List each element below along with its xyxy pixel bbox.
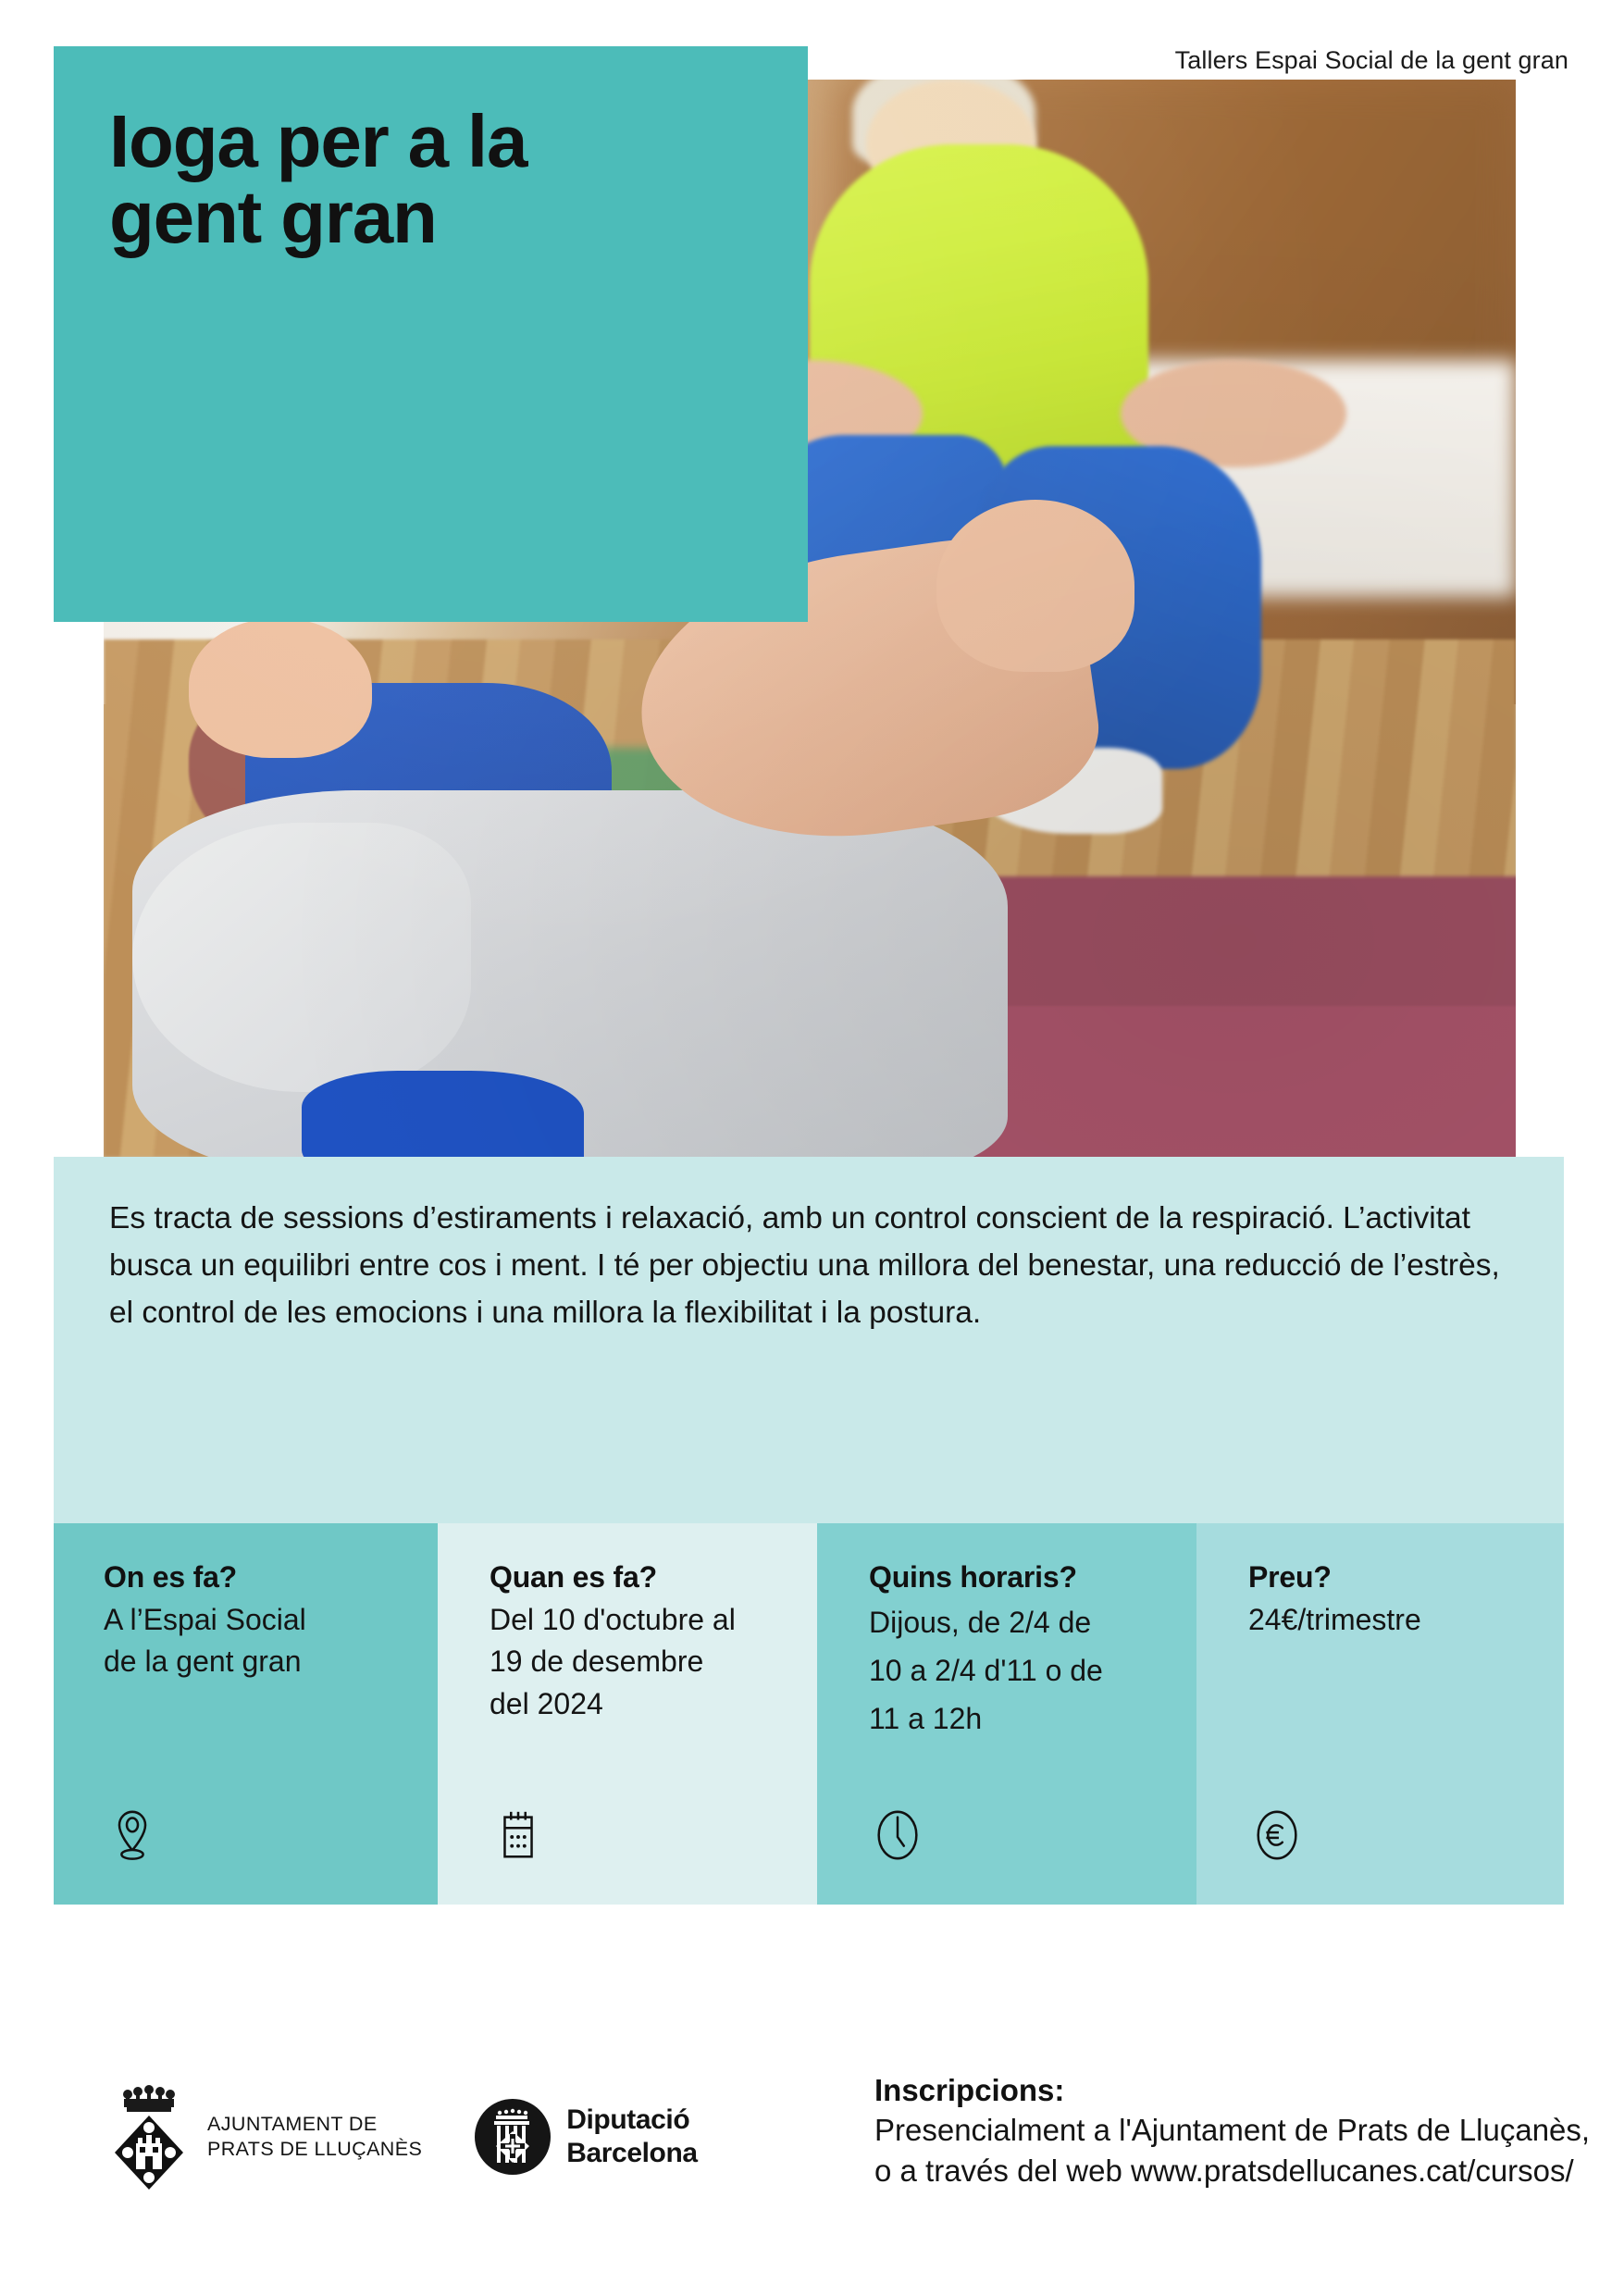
footer-logos: AJUNTAMENT DE PRATS DE LLUÇANÈS	[109, 2082, 698, 2191]
info-answer-dates: Del 10 d'octubre al 19 de desembre del 2…	[490, 1599, 797, 1725]
info-column-dates: Quan es fa? Del 10 d'octubre al 19 de de…	[438, 1523, 817, 1905]
calendar-icon	[490, 1806, 547, 1864]
poster-root: Tallers Espai Social de la gent gran Iog…	[0, 0, 1624, 2296]
clock-icon	[869, 1806, 926, 1864]
ajuntament-wordmark-line-2: PRATS DE LLUÇANÈS	[207, 2137, 422, 2162]
ajuntament-logo: AJUNTAMENT DE PRATS DE LLUÇANÈS	[109, 2082, 422, 2191]
info-column-price: Preu? 24€/trimestre	[1196, 1523, 1564, 1905]
info-answer-schedule: Dijous, de 2/4 de 10 a 2/4 d'11 o de 11 …	[869, 1599, 1176, 1743]
inscriptions-block: Inscripcions: Presencialment a l'Ajuntam…	[874, 2073, 1605, 2191]
ajuntament-crest-icon	[109, 2082, 189, 2191]
diputacio-wordmark-line-2: Barcelona	[566, 2137, 697, 2170]
info-question-location: On es fa?	[104, 1560, 417, 1595]
info-column-location: On es fa? A l’Espai Social de la gent gr…	[54, 1523, 438, 1905]
diputacio-wordmark-line-1: Diputació	[566, 2104, 697, 2137]
ajuntament-wordmark-line-1: AJUNTAMENT DE	[207, 2112, 422, 2137]
title-block: Ioga per a la gent gran	[54, 46, 808, 622]
diputacio-seal-icon	[474, 2098, 552, 2176]
header-eyebrow: Tallers Espai Social de la gent gran	[1175, 46, 1568, 75]
euro-circle-icon	[1248, 1806, 1306, 1864]
info-question-price: Preu?	[1248, 1560, 1543, 1595]
description-text: Es tracta de sessions d’estiraments i re…	[109, 1196, 1506, 1337]
info-column-schedule: Quins horaris? Dijous, de 2/4 de 10 a 2/…	[817, 1523, 1196, 1905]
photo-front-person-hand	[936, 500, 1134, 672]
footer: AJUNTAMENT DE PRATS DE LLUÇANÈS	[0, 2054, 1624, 2296]
inscriptions-body: Presencialment a l'Ajuntament de Prats d…	[874, 2110, 1605, 2191]
photo-front-person-knee	[132, 823, 471, 1092]
description-band: Es tracta de sessions d’estiraments i re…	[54, 1157, 1564, 1523]
ajuntament-wordmark: AJUNTAMENT DE PRATS DE LLUÇANÈS	[207, 2112, 422, 2162]
diputacio-wordmark: Diputació Barcelona	[566, 2104, 697, 2170]
info-question-schedule: Quins horaris?	[869, 1560, 1176, 1595]
info-answer-price: 24€/trimestre	[1248, 1599, 1543, 1641]
diputacio-logo: Diputació Barcelona	[474, 2098, 697, 2176]
page-title-line-1: Ioga per a la	[109, 104, 757, 180]
info-question-dates: Quan es fa?	[490, 1560, 797, 1595]
page-title: Ioga per a la gent gran	[109, 104, 757, 256]
inscriptions-title: Inscripcions:	[874, 2073, 1605, 2108]
page-title-line-2: gent gran	[109, 180, 757, 255]
location-pin-icon	[104, 1806, 161, 1864]
photo-front-person-shoe	[302, 1071, 584, 1157]
info-answer-location: A l’Espai Social de la gent gran	[104, 1599, 417, 1683]
info-columns-row: On es fa? A l’Espai Social de la gent gr…	[54, 1523, 1564, 1905]
photo-front-person-hand-left	[189, 618, 372, 758]
